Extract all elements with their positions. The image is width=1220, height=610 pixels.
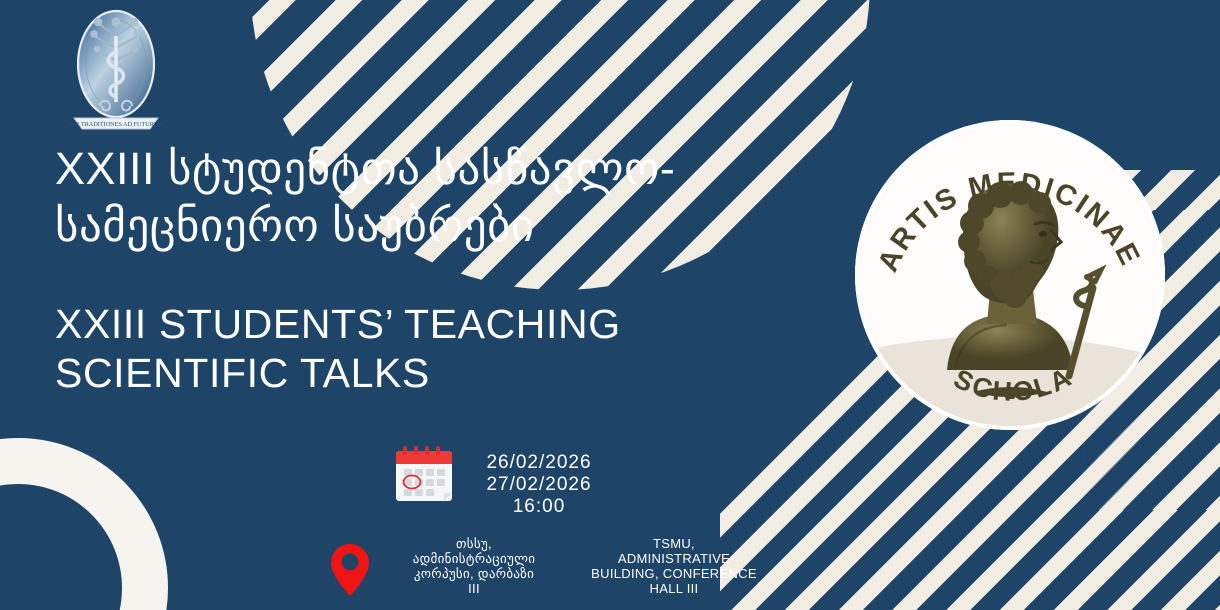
schola-artis-medicinae-emblem: ARTIS MEDICINAE SCHOLA — [855, 120, 1165, 430]
location-english: TSMU, ADMINISTRATIVE BUILDING, CONFERENC… — [562, 536, 778, 596]
event-poster: PER TRADITIONES AD FUTURUM XXIII სტუდენტ… — [0, 0, 1220, 610]
crest-ribbon-text: PER TRADITIONES AD FUTURUM — [68, 121, 164, 128]
title-block: XXIII სტუდენტთა სასწავლო- სამეცნიერო საუ… — [55, 140, 815, 398]
date-row: 26/02/2026 27/02/2026 16:00 — [330, 443, 830, 518]
tsmu-crest-logo: PER TRADITIONES AD FUTURUM — [66, 6, 166, 130]
location-row: თსსუ, ადმინისტრაციული კორპუსი, დარბაზი I… — [330, 536, 830, 603]
page-title-english: XXIII STUDENTS’ TEACHING SCIENTIFIC TALK… — [55, 300, 815, 398]
map-pin-icon — [330, 536, 386, 603]
cream-ring-arc-decoration — [0, 438, 168, 610]
event-dates: 26/02/2026 27/02/2026 16:00 — [464, 443, 614, 518]
calendar-icon — [392, 443, 464, 510]
page-title-georgian: XXIII სტუდენტთა სასწავლო- სამეცნიერო საუ… — [55, 140, 815, 254]
event-details: 26/02/2026 27/02/2026 16:00 თსსუ, ადმინი… — [330, 443, 830, 603]
location-georgian: თსსუ, ადმინისტრაციული კორპუსი, დარბაზი I… — [386, 536, 562, 596]
